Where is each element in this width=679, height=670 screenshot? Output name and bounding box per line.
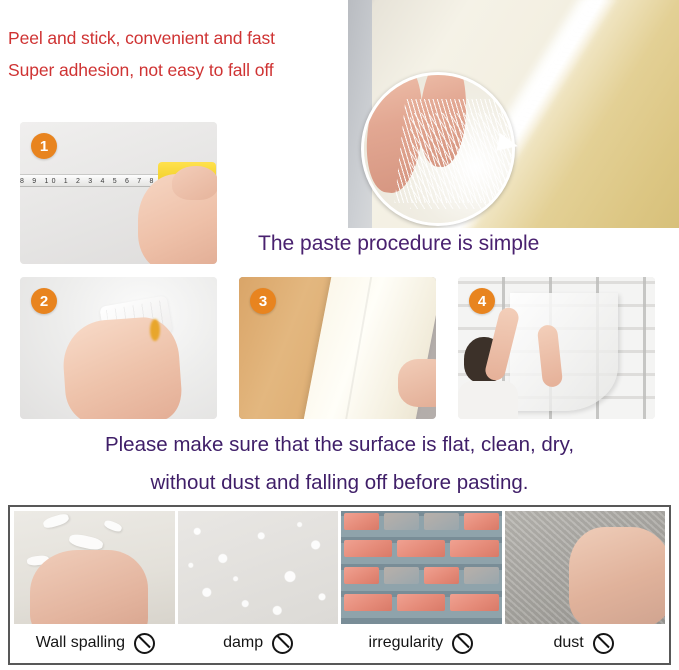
hand-shape	[30, 550, 148, 624]
prohibition-icon	[272, 633, 293, 654]
step-badge-4: 4	[469, 288, 495, 314]
brick	[397, 540, 445, 557]
warning-photo-wall-spalling	[14, 511, 175, 624]
brick-row	[341, 540, 502, 557]
brick	[344, 567, 379, 584]
brick	[344, 540, 392, 557]
step-photo-clean: 2	[20, 277, 217, 419]
brick	[384, 567, 419, 584]
headline-line-1: Peel and stick, convenient and fast	[8, 22, 348, 54]
step-photo-peel: 3	[239, 277, 436, 419]
warning-label-wall-spalling: Wall spalling	[14, 633, 177, 654]
warning-label-row: Wall spalling damp irregularity dust	[14, 624, 665, 662]
hand-shape	[61, 315, 184, 419]
brick-row	[341, 594, 502, 611]
prohibition-icon	[593, 633, 614, 654]
brick	[450, 594, 498, 611]
warning-photo-irregularity	[341, 511, 502, 624]
paint-flake	[103, 519, 123, 533]
panel-being-applied	[510, 293, 618, 411]
prohibition-icon	[452, 633, 473, 654]
instruction-line-2: without dust and falling off before past…	[0, 464, 679, 502]
step-photo-measure: 8 9 10 1 2 3 4 5 6 7 8 9 10 1 2 3 1	[20, 122, 217, 264]
instruction-line-1: Please make sure that the surface is fla…	[105, 433, 574, 456]
step-badge-1: 1	[31, 133, 57, 159]
hand-shape	[569, 527, 665, 624]
brick-row	[341, 513, 502, 530]
brick-row	[341, 567, 502, 584]
brick	[464, 513, 499, 530]
hand-shape	[398, 359, 436, 407]
brick	[464, 567, 499, 584]
unsuitable-surfaces-panel: Wall spalling damp irregularity dust	[8, 505, 671, 665]
brick	[384, 513, 419, 530]
paint-flake	[42, 512, 70, 530]
brick	[450, 540, 498, 557]
prohibition-icon	[134, 633, 155, 654]
brick	[424, 513, 459, 530]
paint-flake	[68, 532, 104, 551]
brick	[424, 567, 459, 584]
warning-label-text: damp	[223, 634, 263, 652]
warning-photo-damp	[178, 511, 339, 624]
warning-label-damp: damp	[177, 633, 340, 654]
step-badge-3: 3	[250, 288, 276, 314]
warning-label-dust: dust	[502, 633, 665, 654]
hero-product-photo: Super Viscous	[348, 0, 679, 228]
brick	[344, 594, 392, 611]
headline-block: Peel and stick, convenient and fast Supe…	[8, 22, 348, 86]
step-badge-2: 2	[31, 288, 57, 314]
water-droplets	[178, 511, 339, 624]
warning-label-text: dust	[554, 634, 584, 652]
callout-tail-icon	[496, 133, 519, 155]
reflection-highlight	[150, 319, 160, 341]
surface-instruction: Please make sure that the surface is fla…	[0, 426, 679, 502]
magnifier-circle: Super Viscous	[361, 72, 515, 226]
warning-label-irregularity: irregularity	[340, 633, 503, 654]
brick	[344, 513, 379, 530]
thumb-shape	[172, 166, 217, 200]
headline-line-2: Super adhesion, not easy to fall off	[8, 54, 348, 86]
adhesive-strings	[410, 113, 514, 209]
person-body	[458, 381, 518, 419]
warning-label-text: irregularity	[369, 634, 444, 652]
brick	[397, 594, 445, 611]
step-photo-apply: 4	[458, 277, 655, 419]
warning-label-text: Wall spalling	[36, 634, 125, 652]
warning-photo-dust	[505, 511, 666, 624]
paste-procedure-heading: The paste procedure is simple	[258, 232, 539, 256]
warning-photo-row	[14, 511, 665, 624]
